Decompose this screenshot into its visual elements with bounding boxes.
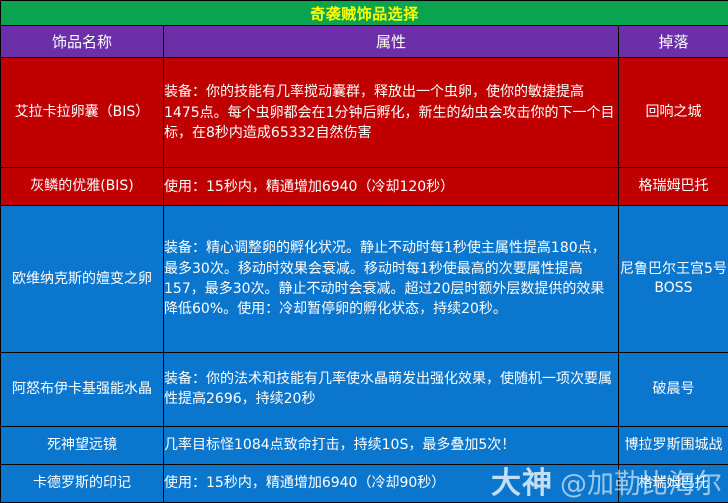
trinket-attribute: 使用：15秒内，精通增加6940（冷却90秒） [164, 464, 619, 502]
trinket-name: 卡德罗斯的印记 [1, 464, 164, 502]
column-header-drop: 掉落 [619, 26, 728, 58]
column-header-name: 饰品名称 [1, 26, 164, 58]
trinket-name: 灰鳞的优雅(BIS) [1, 168, 164, 206]
table-row: 灰鳞的优雅(BIS) 使用：15秒内，精通增加6940（冷却120秒） 格瑞姆巴… [1, 168, 728, 206]
trinket-drop: 回响之城 [619, 58, 728, 168]
trinket-name: 阿怒布伊卡基强能水晶 [1, 352, 164, 426]
trinket-attribute: 装备：你的技能有几率搅动囊群，释放出一个虫卵，使你的敏捷提高1475点。每个虫卵… [164, 58, 619, 168]
trinket-drop: 博拉罗斯围城战 [619, 427, 728, 465]
trinket-attribute: 使用：15秒内，精通增加6940（冷却120秒） [164, 168, 619, 206]
table-row: 艾拉卡拉卵囊（BIS） 装备：你的技能有几率搅动囊群，释放出一个虫卵，使你的敏捷… [1, 58, 728, 168]
table-header-row: 饰品名称 属性 掉落 [1, 26, 728, 58]
table-row: 卡德罗斯的印记 使用：15秒内，精通增加6940（冷却90秒） 格瑞姆巴托 [1, 464, 728, 502]
trinket-drop: 破晨号 [619, 352, 728, 426]
trinket-name: 欧维纳克斯的嬗变之卵 [1, 206, 164, 353]
table-row: 阿怒布伊卡基强能水晶 装备：你的法术和技能有几率使水晶萌发出强化效果，使随机一项… [1, 352, 728, 426]
trinket-drop: 格瑞姆巴托 [619, 464, 728, 502]
page-title: 奇袭贼饰品选择 [1, 1, 728, 26]
trinket-selection-screen: 奇袭贼饰品选择 饰品名称 属性 掉落 艾拉卡拉卵囊（BIS） 装备：你的技能有几… [0, 0, 728, 503]
trinket-name: 艾拉卡拉卵囊（BIS） [1, 58, 164, 168]
table-row: 死神望远镜 几率目标怪1084点致命打击，持续10S，最多叠加5次！ 博拉罗斯围… [1, 427, 728, 465]
trinket-attribute: 几率目标怪1084点致命打击，持续10S，最多叠加5次！ [164, 427, 619, 465]
trinket-table: 奇袭贼饰品选择 饰品名称 属性 掉落 艾拉卡拉卵囊（BIS） 装备：你的技能有几… [0, 0, 728, 503]
table-row: 欧维纳克斯的嬗变之卵 装备：精心调整卵的孵化状况。静止不动时每1秒使主属性提高1… [1, 206, 728, 353]
trinket-attribute: 装备：你的法术和技能有几率使水晶萌发出强化效果，使随机一项次要属性提高2696，… [164, 352, 619, 426]
trinket-name: 死神望远镜 [1, 427, 164, 465]
column-header-attribute: 属性 [164, 26, 619, 58]
trinket-drop: 尼鲁巴尔王宫5号BOSS [619, 206, 728, 353]
trinket-attribute: 装备：精心调整卵的孵化状况。静止不动时每1秒使主属性提高180点，最多30次。移… [164, 206, 619, 353]
table-title-row: 奇袭贼饰品选择 [1, 1, 728, 26]
trinket-drop: 格瑞姆巴托 [619, 168, 728, 206]
